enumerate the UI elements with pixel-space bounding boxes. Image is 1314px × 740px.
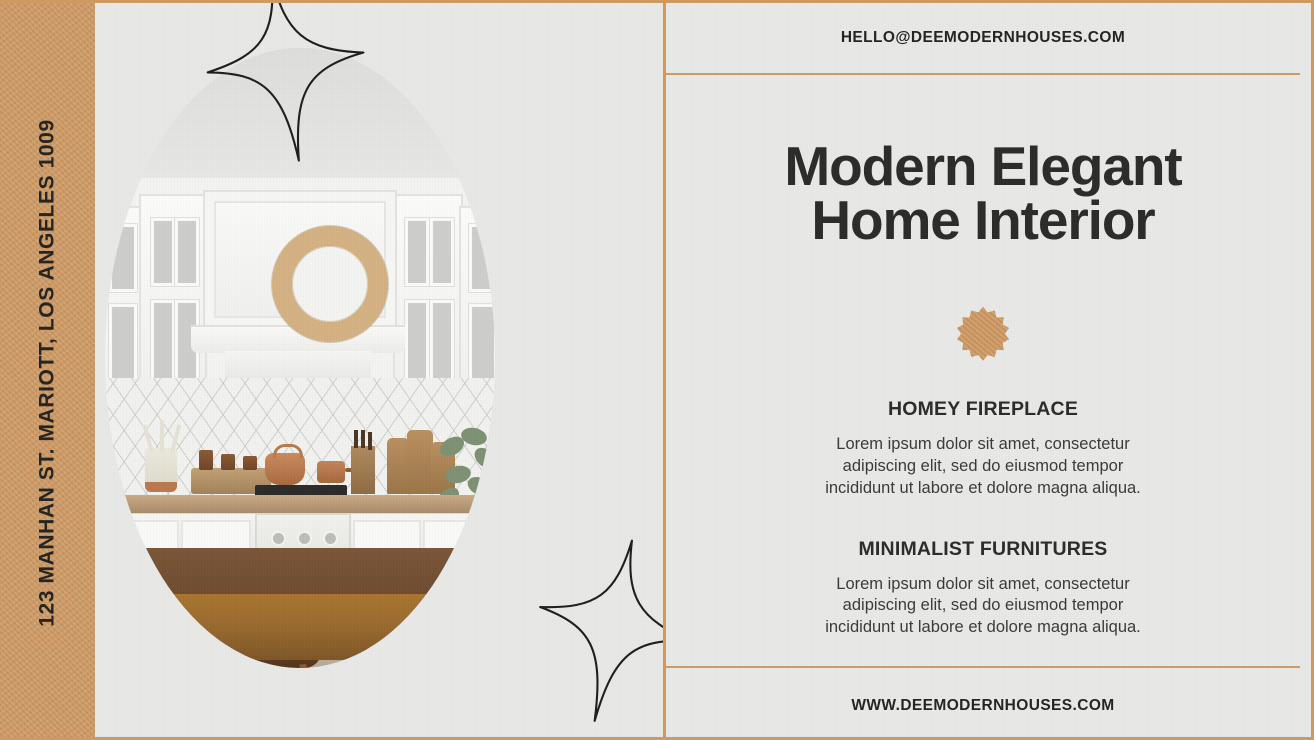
- page-title-line-2: Home Interior: [784, 193, 1181, 247]
- scene-oven-knob: [323, 531, 338, 546]
- address-text: 123 MANHAN ST. MARIOTT, LOS ANGELES 1009: [36, 119, 60, 626]
- scene-leaf: [471, 444, 495, 474]
- kitchen-photo: [105, 48, 495, 668]
- kitchen-scene: [105, 48, 495, 668]
- scene-cabinet-glass: [151, 218, 175, 286]
- content-panel: HELLO@DEEMODERNHOUSES.COM Modern Elegant…: [666, 3, 1311, 740]
- scene-board: [387, 438, 409, 494]
- feature-body: Lorem ipsum dolor sit amet, consectetur …: [807, 434, 1159, 500]
- contact-email[interactable]: HELLO@DEEMODERNHOUSES.COM: [841, 29, 1125, 47]
- starburst-icon: [956, 307, 1010, 361]
- scene-utensil-crock: [145, 448, 177, 492]
- scene-cabinet-glass: [430, 218, 454, 286]
- scene-cabinet-glass: [151, 300, 175, 386]
- feature-section: HOMEY FIREPLACE Lorem ipsum dolor sit am…: [696, 398, 1270, 500]
- scene-knife-block: [351, 446, 375, 494]
- page-title-line-1: Modern Elegant: [784, 139, 1181, 193]
- scene-cabinet-glass: [405, 300, 429, 386]
- image-panel: [95, 3, 663, 740]
- vertical-divider: [663, 3, 666, 740]
- scene-pot: [317, 461, 345, 483]
- scene-jar: [199, 450, 213, 470]
- scene-oven-knob: [271, 531, 286, 546]
- scene-jar: [221, 454, 235, 470]
- scene-island: [105, 548, 495, 668]
- scene-island-top: [105, 548, 495, 594]
- header-bar: HELLO@DEEMODERNHOUSES.COM: [666, 3, 1300, 75]
- footer-bar: WWW.DEEMODERNHOUSES.COM: [666, 666, 1300, 740]
- scene-countertop: [105, 495, 495, 513]
- scene-cabinet-glass: [109, 224, 137, 292]
- main-content: Modern Elegant Home Interior HOMEY FIREP…: [666, 77, 1300, 664]
- scene-cabinet-glass: [109, 304, 137, 386]
- sparkle-bottom-icon: [495, 531, 663, 736]
- feature-title: HOMEY FIREPLACE: [696, 398, 1270, 421]
- scene-cabinet-glass: [469, 224, 495, 292]
- website-url[interactable]: WWW.DEEMODERNHOUSES.COM: [851, 697, 1114, 715]
- page-title: Modern Elegant Home Interior: [784, 139, 1181, 248]
- poster-canvas: 123 MANHAN ST. MARIOTT, LOS ANGELES 1009: [0, 0, 1314, 740]
- scene-utensil: [160, 420, 164, 452]
- scene-jar: [243, 456, 257, 470]
- scene-hood-chimney: [225, 351, 371, 379]
- feature-title: MINIMALIST FURNITURES: [696, 538, 1270, 561]
- scene-kettle: [265, 453, 305, 485]
- scene-cabinet-glass: [469, 304, 495, 386]
- address-sidebar: 123 MANHAN ST. MARIOTT, LOS ANGELES 1009: [0, 3, 95, 740]
- feature-body: Lorem ipsum dolor sit amet, consectetur …: [807, 574, 1159, 640]
- scene-island-front: [105, 594, 495, 660]
- scene-cabinet-glass: [430, 300, 454, 386]
- scene-board: [407, 430, 433, 494]
- scene-cabinet-glass: [405, 218, 429, 286]
- scene-oven-knob: [297, 531, 312, 546]
- feature-section: MINIMALIST FURNITURES Lorem ipsum dolor …: [696, 538, 1270, 640]
- scene-cabinet-glass: [175, 218, 199, 286]
- scene-wreath: [272, 226, 388, 342]
